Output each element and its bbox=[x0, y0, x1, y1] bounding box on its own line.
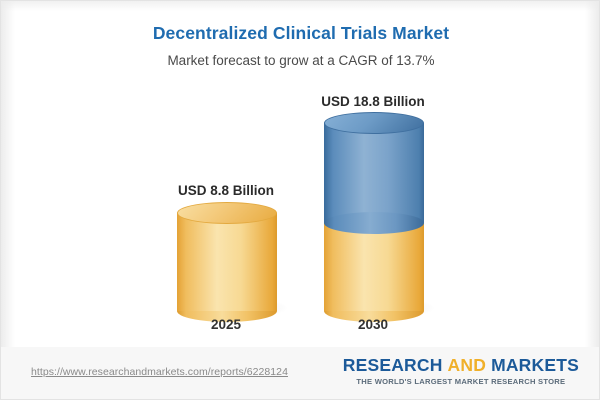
logo-word-research: RESEARCH bbox=[343, 355, 443, 375]
cylinder-2025 bbox=[177, 207, 277, 311]
infographic-card: Decentralized Clinical Trials Market Mar… bbox=[0, 0, 600, 400]
logo-tagline: THE WORLD'S LARGEST MARKET RESEARCH STOR… bbox=[343, 377, 579, 386]
logo-word-and: AND bbox=[448, 355, 487, 375]
cylinder-body-2030-growth bbox=[324, 123, 424, 223]
category-label-2030: 2030 bbox=[278, 317, 468, 332]
cylinder-top-cap-2025 bbox=[177, 202, 277, 224]
bar-group-2030: USD 18.8 Billion 2030 bbox=[278, 1, 468, 349]
report-url-link[interactable]: https://www.researchandmarkets.com/repor… bbox=[31, 366, 288, 378]
footer-bar: https://www.researchandmarkets.com/repor… bbox=[1, 347, 600, 399]
value-label-2030: USD 18.8 Billion bbox=[278, 94, 468, 109]
cylinder-top-cap-2030 bbox=[324, 112, 424, 134]
cylinder-segment-2030-growth bbox=[324, 123, 424, 223]
cylinder-segment-2025-base bbox=[177, 213, 277, 311]
logo-word-markets: MARKETS bbox=[491, 355, 579, 375]
logo-wordmark: RESEARCHANDMARKETS bbox=[343, 355, 579, 376]
cylinder-segment-divider-2030 bbox=[324, 212, 424, 234]
research-and-markets-logo[interactable]: RESEARCHANDMARKETS THE WORLD'S LARGEST M… bbox=[343, 355, 579, 386]
chart-plot-area: USD 8.8 Billion 2025 USD 18.8 Billion bbox=[1, 1, 600, 349]
cylinder-2030 bbox=[324, 117, 424, 311]
cylinder-body-2025-base-overlay bbox=[177, 213, 277, 311]
